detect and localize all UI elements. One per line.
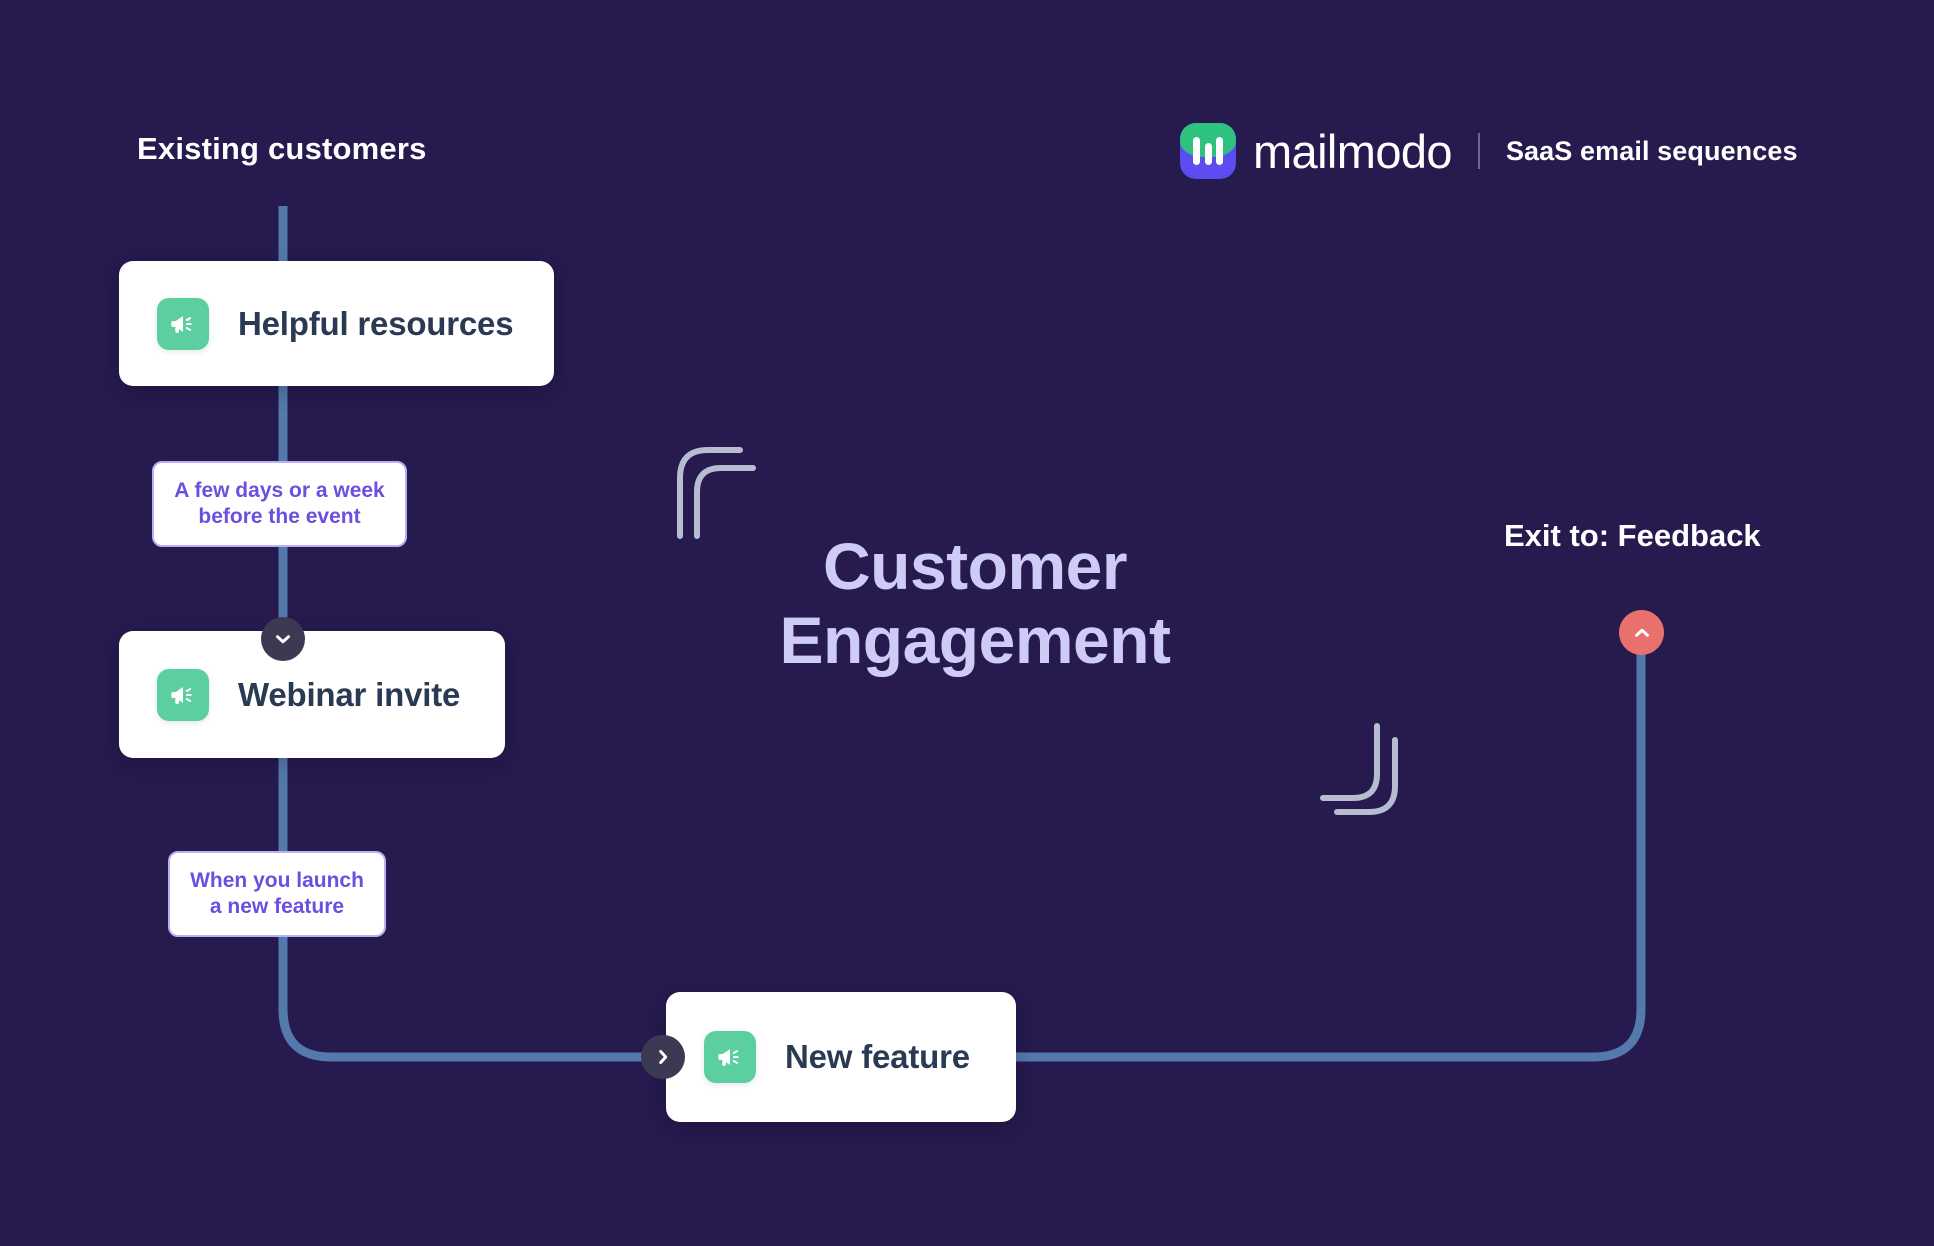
megaphone-icon: [704, 1031, 756, 1083]
brand-bar: mailmodo SaaS email sequences: [1180, 120, 1798, 182]
mailmodo-logo-icon: [1180, 123, 1236, 179]
logo-bar-right: [1216, 137, 1223, 165]
step-card-new-feature[interactable]: New feature: [666, 992, 1016, 1122]
exit-to-feedback-label: Exit to: Feedback: [1504, 518, 1761, 554]
step-card-title: Helpful resources: [238, 305, 513, 343]
rounded-corner-bracket-icon-2: [1303, 718, 1423, 818]
section-label-existing-customers: Existing customers: [137, 131, 427, 167]
megaphone-icon: [157, 669, 209, 721]
chevron-down-icon[interactable]: [261, 617, 305, 661]
rounded-corner-bracket-icon: [652, 440, 772, 540]
step-card-helpful-resources[interactable]: Helpful resources: [119, 261, 554, 386]
step-card-title: Webinar invite: [238, 676, 460, 714]
infographic-canvas: Existing customers mailmodo SaaS email s…: [0, 0, 1934, 1246]
brand-tagline: SaaS email sequences: [1506, 136, 1798, 167]
step-card-webinar-invite[interactable]: Webinar invite: [119, 631, 505, 758]
brand-divider: [1478, 133, 1480, 169]
page-title: Customer Engagement: [740, 530, 1210, 678]
chevron-right-icon[interactable]: [641, 1035, 685, 1079]
delay-badge: When you launch a new feature: [168, 851, 386, 937]
chevron-up-icon[interactable]: [1619, 610, 1664, 655]
logo-bar-left: [1193, 137, 1200, 165]
megaphone-icon: [157, 298, 209, 350]
logo-bar-middle: [1205, 143, 1212, 165]
step-card-title: New feature: [785, 1038, 970, 1076]
brand-wordmark: mailmodo: [1253, 128, 1452, 175]
wire-new-feature-to-exit: [1014, 636, 1641, 1057]
delay-badge: A few days or a week before the event: [152, 461, 407, 547]
